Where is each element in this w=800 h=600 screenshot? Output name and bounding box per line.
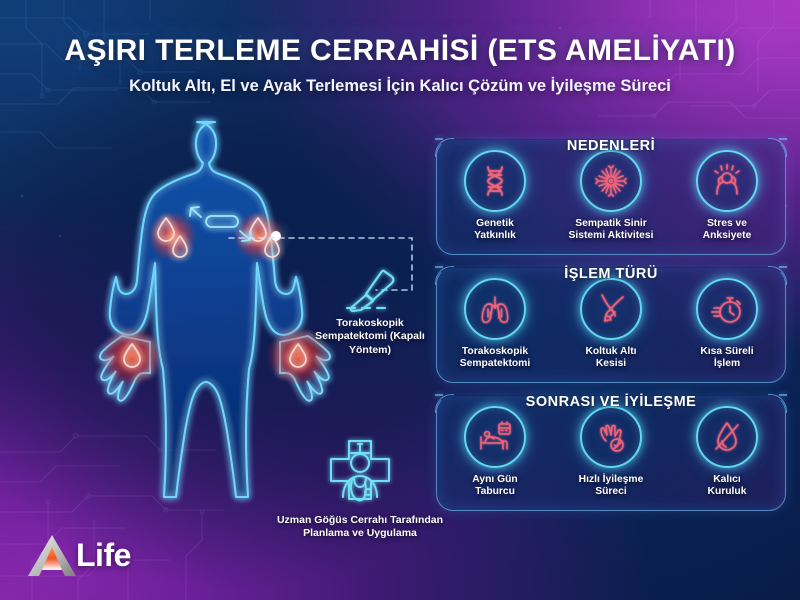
card-item-label: Sempatik Sinir Sistemi Aktivitesi [569, 218, 654, 243]
hands-check-icon [580, 406, 642, 468]
panel-recovery-box: Aynı Gün Taburcu [436, 395, 786, 511]
card-item-label: Kısa Süreli İşlem [700, 346, 753, 371]
no-sweat-drop-icon [696, 406, 758, 468]
panel-causes: NEDENLERİ [436, 139, 786, 255]
callout-doctor-caption: Uzman Göğüs Cerrahı Tarafından Planlama … [258, 514, 462, 541]
a-triangle-logo-icon [26, 533, 78, 577]
header: AŞIRI TERLEME CERRAHİSİ (ETS AMELİYATI) … [0, 34, 800, 96]
brand-logo-text: Life [76, 537, 131, 574]
lungs-icon [464, 278, 526, 340]
card-item-label: Torakoskopik Sempatektomi [460, 346, 530, 371]
panel-recovery: SONRASI VE İYİLEŞME [436, 395, 786, 511]
page-title: AŞIRI TERLEME CERRAHİSİ (ETS AMELİYATI) [0, 34, 800, 68]
stopwatch-icon [696, 278, 758, 340]
panel-procedure: İŞLEM TÜRÜ [436, 267, 786, 383]
card-item-label: Stres ve Anksiyete [703, 218, 752, 243]
panel-corner [435, 394, 454, 413]
card-item[interactable]: Kısa Süreli İşlem [670, 278, 785, 371]
panel-corner [768, 394, 787, 413]
armpit-incision-icon [580, 278, 642, 340]
panel-border-segment [779, 266, 787, 268]
panel-border-segment [779, 138, 787, 140]
bed-calendar-icon [464, 406, 526, 468]
brand-logo[interactable]: Life [26, 533, 131, 577]
callout-scalpel: Torakoskopik Sempatektomi (Kapalı Yöntem… [300, 268, 440, 357]
info-panels: NEDENLERİ [436, 130, 786, 523]
card-item[interactable]: Sempatik Sinir Sistemi Aktivitesi [554, 150, 669, 243]
card-item-label: Hızlı İyileşme Süreci [579, 474, 644, 499]
panel-corner [435, 138, 454, 157]
card-item[interactable]: Hızlı İyileşme Süreci [554, 406, 669, 499]
panel-corner [768, 266, 787, 285]
card-item-label: Aynı Gün Taburcu [472, 474, 517, 499]
callout-scalpel-caption: Torakoskopik Sempatektomi (Kapalı Yöntem… [300, 317, 440, 357]
panel-corner [768, 138, 787, 157]
panel-causes-box: Genetik Yatkınlık Sempatik [436, 139, 786, 255]
doctor-cross-icon [321, 437, 399, 511]
card-item[interactable]: Koltuk Altı Kesisi [554, 278, 669, 371]
card-item-label: Koltuk Altı Kesisi [585, 346, 636, 371]
neuron-icon [580, 150, 642, 212]
card-item-label: Genetik Yatkınlık [474, 218, 516, 243]
panel-corner [435, 266, 454, 285]
callout-doctor: Uzman Göğüs Cerrahı Tarafından Planlama … [258, 437, 462, 541]
dna-icon [464, 150, 526, 212]
card-item[interactable]: Torakoskopik Sempatektomi [438, 278, 553, 371]
page-subtitle: Koltuk Altı, El ve Ayak Terlemesi İçin K… [0, 77, 800, 96]
card-item[interactable]: Aynı Gün Taburcu [438, 406, 553, 499]
card-item-label: Kalıcı Kuruluk [708, 474, 747, 499]
scalpel-icon [327, 268, 413, 314]
panel-border-segment [779, 394, 787, 396]
infographic-canvas: AŞIRI TERLEME CERRAHİSİ (ETS AMELİYATI) … [0, 0, 800, 600]
card-item[interactable]: Stres ve Anksiyete [670, 150, 785, 243]
card-item[interactable]: Kalıcı Kuruluk [670, 406, 785, 499]
panel-procedure-box: Torakoskopik Sempatektomi [436, 267, 786, 383]
stress-head-icon [696, 150, 758, 212]
card-item[interactable]: Genetik Yatkınlık [438, 150, 553, 243]
